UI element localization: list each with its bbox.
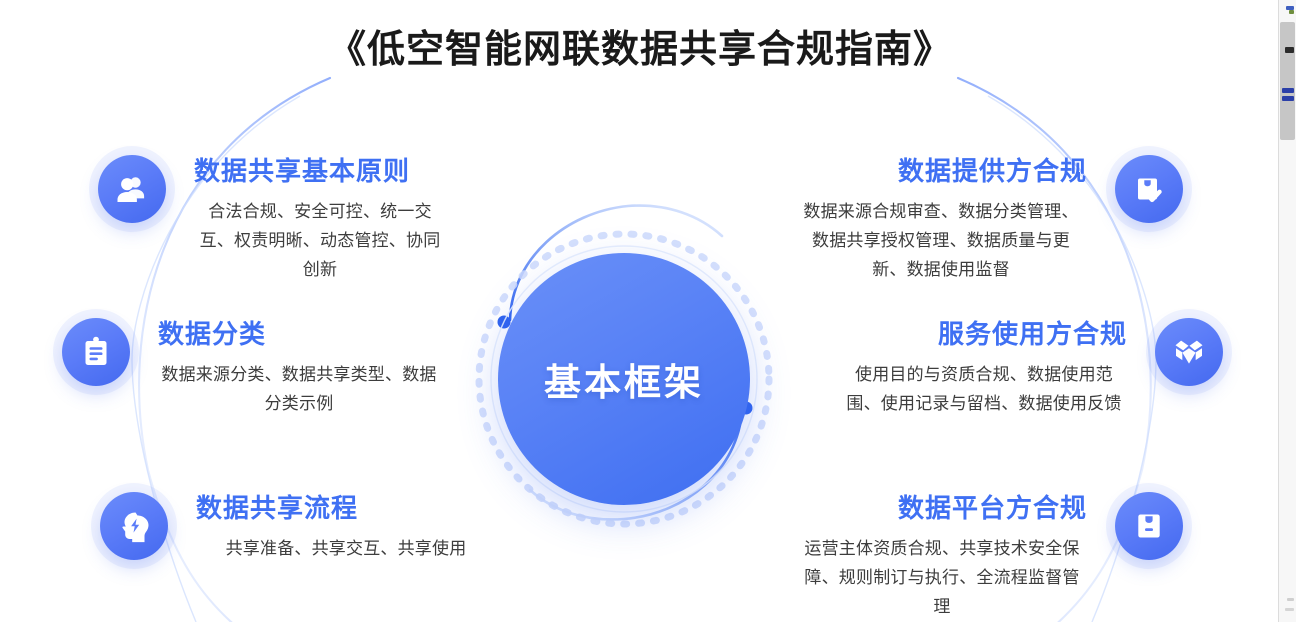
scrollbar-mark (1289, 10, 1294, 14)
document-check-icon (1115, 155, 1183, 223)
node-title: 数据共享流程 (196, 492, 358, 525)
hub-circle: 基本框架 (498, 253, 750, 505)
node-title: 数据分类 (158, 318, 266, 351)
shopping-bag-icon (1115, 492, 1183, 560)
node-description: 共享准备、共享交互、共享使用 (196, 534, 496, 563)
open-box-icon (1155, 318, 1223, 386)
scrollbar-mark (1287, 598, 1294, 601)
node-text-block: 数据平台方合规 运营主体资质合规、共享技术安全保障、规则制订与执行、全流程监督管… (797, 492, 1087, 621)
node-data-platform-compliance[interactable]: 数据平台方合规 运营主体资质合规、共享技术安全保障、规则制订与执行、全流程监督管… (797, 492, 1183, 621)
node-title: 服务使用方合规 (938, 318, 1127, 351)
node-text-block: 数据共享流程 共享准备、共享交互、共享使用 (196, 492, 496, 563)
scrollbar-mark (1285, 608, 1294, 611)
node-description: 数据来源合规审查、数据分类管理、数据共享授权管理、数据质量与更新、数据使用监督 (795, 197, 1087, 285)
users-icon (98, 155, 166, 223)
clipboard-icon (62, 318, 130, 386)
node-title: 数据平台方合规 (898, 492, 1087, 525)
node-text-block: 服务使用方合规 使用目的与资质合规、数据使用范围、使用记录与留档、数据使用反馈 (841, 318, 1127, 418)
node-text-block: 数据共享基本原则 合法合规、安全可控、统一交互、权责明晰、动态管控、协同创新 (194, 155, 446, 284)
node-data-sharing-principles[interactable]: 数据共享基本原则 合法合规、安全可控、统一交互、权责明晰、动态管控、协同创新 (98, 155, 446, 284)
node-text-block: 数据提供方合规 数据来源合规审查、数据分类管理、数据共享授权管理、数据质量与更新… (795, 155, 1087, 284)
node-text-block: 数据分类 数据来源分类、数据共享类型、数据分类示例 (158, 318, 440, 418)
hub-label: 基本框架 (544, 352, 704, 406)
node-description: 合法合规、安全可控、统一交互、权责明晰、动态管控、协同创新 (194, 197, 446, 285)
node-description: 运营主体资质合规、共享技术安全保障、规则制订与执行、全流程监督管理 (797, 534, 1087, 622)
node-description: 数据来源分类、数据共享类型、数据分类示例 (158, 360, 440, 418)
node-data-provider-compliance[interactable]: 数据提供方合规 数据来源合规审查、数据分类管理、数据共享授权管理、数据质量与更新… (795, 155, 1183, 284)
node-data-sharing-process[interactable]: 数据共享流程 共享准备、共享交互、共享使用 (100, 492, 496, 563)
page-scrollbar[interactable] (1278, 0, 1296, 622)
node-service-user-compliance[interactable]: 服务使用方合规 使用目的与资质合规、数据使用范围、使用记录与留档、数据使用反馈 (841, 318, 1223, 418)
brain-bolt-icon (100, 492, 168, 560)
scrollbar-mark (1285, 47, 1294, 53)
scrollbar-mark (1282, 96, 1294, 101)
node-data-classification[interactable]: 数据分类 数据来源分类、数据共享类型、数据分类示例 (62, 318, 440, 418)
center-hub: 基本框架 (498, 253, 750, 505)
node-title: 数据提供方合规 (898, 155, 1087, 188)
scrollbar-marks (1281, 0, 1294, 160)
node-title: 数据共享基本原则 (194, 155, 410, 188)
scrollbar-mark (1282, 88, 1294, 93)
page-title: 《低空智能网联数据共享合规指南》 (0, 28, 1280, 74)
node-description: 使用目的与资质合规、数据使用范围、使用记录与留档、数据使用反馈 (841, 360, 1127, 418)
infographic-canvas: 《低空智能网联数据共享合规指南》 基本框架 数据共享基本原则 合法合规、安全可控 (0, 0, 1296, 622)
